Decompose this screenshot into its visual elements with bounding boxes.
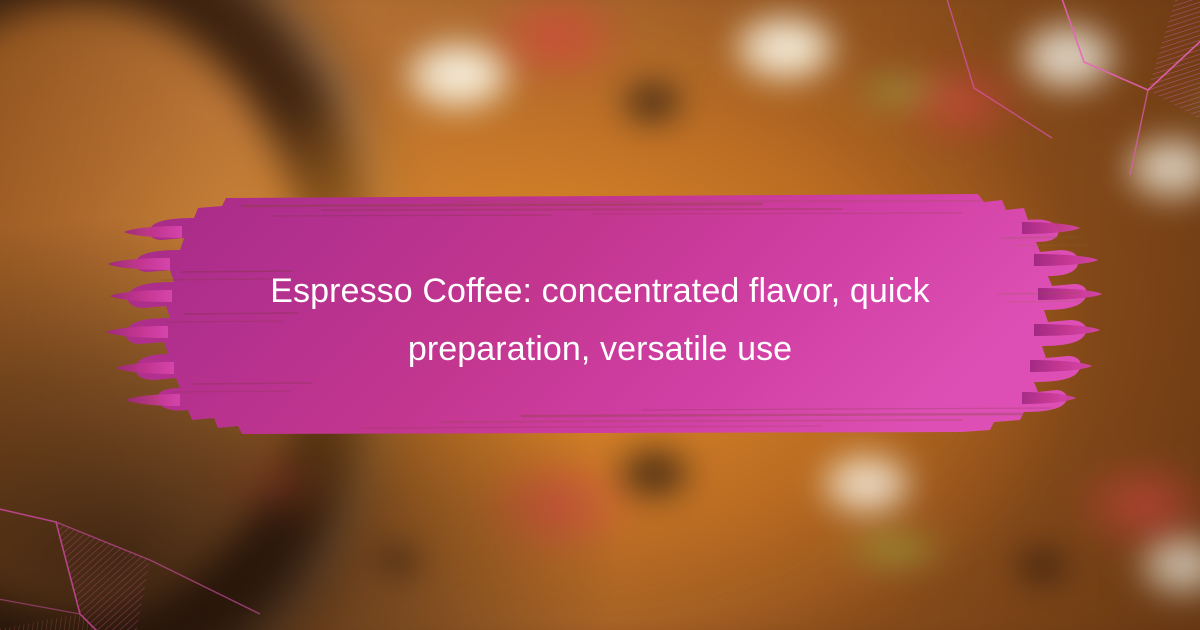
banner-card: Espresso Coffee: concentrated flavor, qu… [0, 0, 1200, 630]
headline-line-1: Espresso Coffee: concentrated flavor, qu… [270, 272, 929, 310]
headline-line-2: preparation, versatile use [408, 330, 792, 368]
page-title: Espresso Coffee: concentrated flavor, qu… [195, 262, 1005, 378]
